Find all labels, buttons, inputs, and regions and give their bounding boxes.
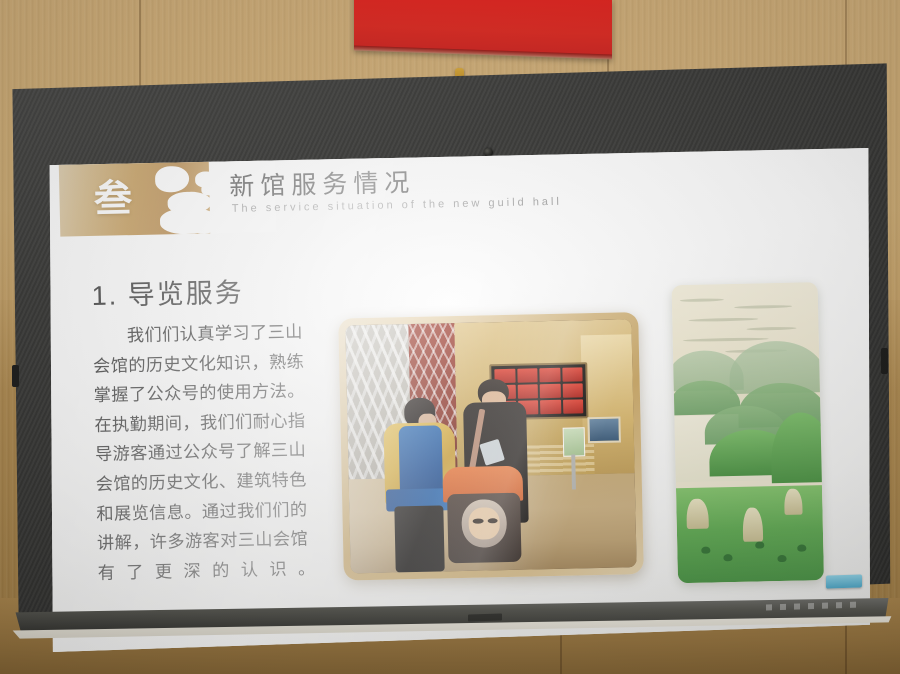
body-char: 有 — [97, 558, 115, 588]
body-char: 更 — [155, 557, 173, 587]
body-line: 和展览信息。通过我们们的 — [96, 495, 315, 529]
body-line: 讲解，许多游客对三山会馆 — [97, 524, 316, 558]
body-line: 导游客通过公众号了解三山 — [95, 436, 314, 470]
asset-sticker — [826, 574, 862, 588]
body-line: 会馆的历史文化、建筑特色 — [95, 465, 314, 499]
body-char: 。 — [298, 554, 316, 584]
slide-title: 新馆服务情况 — [229, 163, 416, 203]
photo-frame — [338, 312, 644, 580]
body-paragraph: 我们们认真学习了三山 会馆的历史文化知识，熟练 掌握了公众号的使用方法。 在执勤… — [92, 317, 316, 588]
section-number-text: 叁 — [85, 173, 142, 226]
landscape-painting — [672, 282, 824, 583]
body-char: 认 — [240, 555, 258, 585]
screen-surface[interactable]: 叁 新馆服务情况 The service situation of the ne… — [48, 148, 870, 652]
screenshot-scene: 叁 新馆服务情况 The service situation of the ne… — [0, 0, 900, 674]
body-char: 识 — [269, 555, 287, 585]
body-line: 会馆的历史文化知识，熟练 — [93, 347, 312, 381]
section-heading: 1. 导览服务 — [91, 271, 244, 313]
slide-header: 叁 新馆服务情况 The service situation of the ne… — [59, 154, 531, 246]
photo-image — [345, 319, 636, 573]
photo-glare — [345, 319, 636, 573]
body-line: 我们们认真学习了三山 — [92, 317, 311, 351]
bezel-button-left[interactable] — [12, 365, 19, 387]
display-panel[interactable]: 叁 新馆服务情况 The service situation of the ne… — [8, 60, 892, 620]
body-line: 掌握了公众号的使用方法。 — [94, 376, 313, 410]
body-line-justified: 有了更深的认识。 — [97, 554, 316, 588]
camera-icon — [484, 148, 493, 157]
presentation-slide: 叁 新馆服务情况 The service situation of the ne… — [48, 148, 870, 652]
body-line: 在执勤期间，我们们耐心指 — [94, 406, 313, 440]
body-char: 的 — [212, 556, 230, 586]
slide-content: 叁 新馆服务情况 The service situation of the ne… — [43, 139, 876, 661]
body-char: 了 — [126, 558, 144, 588]
body-char: 深 — [183, 556, 201, 586]
brand-logo — [468, 614, 502, 622]
bezel-button-right[interactable] — [881, 348, 888, 374]
